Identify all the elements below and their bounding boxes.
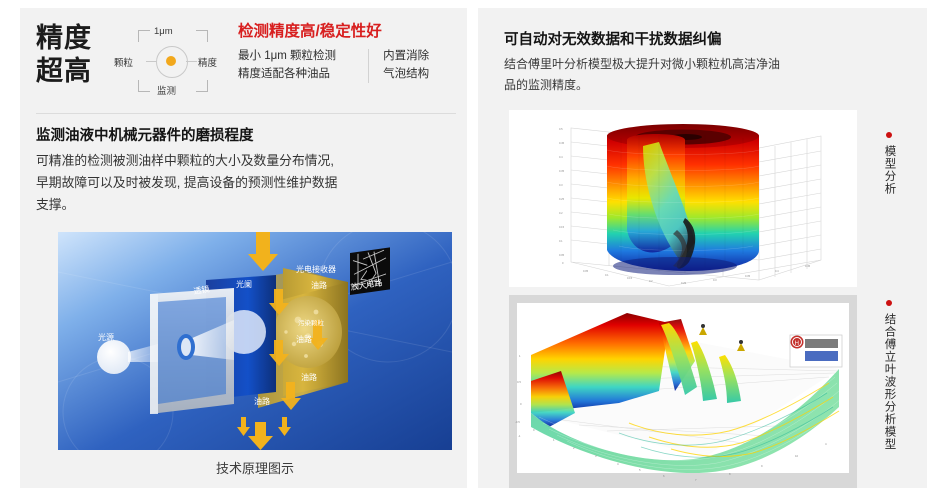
header-spec-row: 最小 1μm 颗粒检测 精度适配各种油品 内置消除 气泡结构: [238, 47, 460, 83]
diagram-label-contaminant: 污染颗粒: [298, 318, 325, 327]
left-section-body: 可精准的检测被测油样中颗粒的大小及数量分布情况, 早期故障可以及时被发现, 提高…: [36, 150, 456, 216]
panel-big-title: 精度 超高: [36, 22, 108, 88]
big-title-line-2: 超高: [36, 55, 108, 88]
slide-root: 精度 超高 1μm 颗粒 精度 监测 检测精度高/稳定性好: [0, 0, 945, 496]
target-tick-left-icon: [146, 61, 157, 62]
svg-text:0.45: 0.45: [559, 141, 565, 145]
technical-principle-diagram: 光源 透镜 光阑 光电接收器 放大电路 油路 污染颗粒 油路 油路 油路 油路: [58, 232, 452, 450]
side-label-1-text: 模型分析: [883, 145, 896, 195]
diagram-label-aperture: 光阑: [236, 279, 252, 289]
badge-label-bottom: 监测: [157, 83, 176, 97]
left-body-line-1: 可精准的检测被测油样中颗粒的大小及数量分布情况,: [36, 150, 456, 172]
svg-text:-0.5: -0.5: [515, 420, 520, 424]
svg-text:0.5: 0.5: [559, 127, 563, 131]
target-tick-right-icon: [186, 61, 197, 62]
side-bullet-2-icon: [886, 300, 892, 306]
svg-text:H: H: [795, 341, 799, 347]
badge-label-right: 精度: [198, 55, 217, 69]
left-panel-header: 精度 超高 1μm 颗粒 精度 监测 检测精度高/稳定性好: [36, 20, 456, 102]
bracket-bottom-right-icon: [196, 80, 208, 92]
right-body-line-1: 结合傅里叶分析模型极大提升对微小颗粒机高洁净油: [504, 54, 834, 75]
diagram-label-oil-path-2: 油路: [296, 334, 312, 344]
svg-text:10: 10: [795, 454, 799, 458]
svg-text:0.2: 0.2: [649, 279, 653, 283]
spec-a-line-1: 最小 1μm 颗粒检测: [238, 47, 368, 65]
header-headline: 检测精度高/稳定性好: [238, 22, 460, 42]
bracket-top-left-icon: [138, 30, 150, 42]
diagram-svg: 光源 透镜 光阑 光电接收器 放大电路 油路 污染颗粒 油路 油路 油路 油路: [58, 232, 452, 450]
chart-2-svg: H 10.50 -0.5-1 012 345 678 9104: [509, 295, 857, 488]
svg-text:0.3: 0.3: [713, 278, 717, 282]
svg-text:0.4: 0.4: [775, 269, 779, 273]
spec-a-line-2: 精度适配各种油品: [238, 65, 368, 83]
svg-text:0.3: 0.3: [559, 183, 563, 187]
chart-2-legend: H: [790, 335, 842, 367]
svg-text:-1: -1: [518, 434, 521, 438]
side-label-model-analysis: 模型分析: [863, 132, 915, 195]
precision-target-icon: 1μm 颗粒 精度 监测: [118, 24, 228, 98]
diagram-label-photo-receiver: 光电接收器: [296, 264, 336, 274]
side-label-fourier-model: 结合傅立叶波形分析模型: [863, 300, 915, 451]
right-feature-panel: 可自动对无效数据和干扰数据纠偏 结合傅里叶分析模型极大提升对微小颗粒机高洁净油 …: [478, 8, 927, 488]
side-label-2-text: 结合傅立叶波形分析模型: [883, 313, 896, 451]
diagram-label-oil-path-top: 油路: [311, 280, 327, 290]
left-section-title: 监测油液中机械元器件的磨损程度: [36, 124, 254, 145]
svg-text:0.4: 0.4: [559, 155, 563, 159]
badge-label-left: 颗粒: [114, 55, 133, 69]
svg-text:0.25: 0.25: [559, 197, 565, 201]
svg-text:0.2: 0.2: [559, 211, 563, 215]
right-body-line-2: 品的监测精度。: [504, 75, 834, 96]
chart-paraboloid-surface: 0.50.450.4 0.350.30.25 0.20.150.1 0.050 …: [509, 110, 857, 287]
left-feature-panel: 精度 超高 1μm 颗粒 精度 监测 检测精度高/稳定性好: [20, 8, 467, 488]
svg-text:0.45: 0.45: [805, 264, 811, 268]
bracket-top-right-icon: [196, 30, 208, 42]
chart-1-surface: [607, 124, 759, 275]
svg-text:0.05: 0.05: [583, 269, 589, 273]
svg-text:0.15: 0.15: [627, 276, 633, 280]
svg-text:0.35: 0.35: [559, 169, 565, 173]
diagram-caption: 技术原理图示: [58, 458, 452, 477]
chart-1-svg: 0.50.450.4 0.350.30.25 0.20.150.1 0.050 …: [509, 110, 857, 287]
diagram-label-oil-path-4: 油路: [254, 396, 270, 406]
badge-label-top: 1μm: [154, 26, 173, 37]
svg-text:0.1: 0.1: [559, 239, 563, 243]
big-title-line-1: 精度: [36, 22, 108, 55]
bracket-bottom-left-icon: [138, 80, 150, 92]
svg-text:0.5: 0.5: [517, 380, 521, 384]
header-divider: [36, 113, 456, 114]
svg-text:0.05: 0.05: [559, 253, 565, 257]
svg-text:0.35: 0.35: [745, 274, 751, 278]
spec-column-a: 最小 1μm 颗粒检测 精度适配各种油品: [238, 47, 368, 83]
left-body-line-2: 早期故障可以及时被发现, 提高设备的预测性维护数据: [36, 172, 456, 194]
header-spec-block: 检测精度高/稳定性好 最小 1μm 颗粒检测 精度适配各种油品 内置消除 气泡结…: [238, 20, 460, 100]
diagram-label-light-source: 光源: [98, 332, 114, 342]
svg-text:0.15: 0.15: [559, 225, 565, 229]
spec-b-line-2: 气泡结构: [383, 65, 460, 83]
svg-text:0.25: 0.25: [681, 281, 687, 285]
spec-column-b: 内置消除 气泡结构: [369, 47, 460, 83]
left-body-line-3: 支撑。: [36, 194, 456, 216]
side-bullet-1-icon: [886, 132, 892, 138]
chart-ripple-surface: H 10.50 -0.5-1 012 345 678 9104: [509, 295, 857, 488]
diagram-label-oil-path-3: 油路: [301, 372, 317, 382]
svg-text:0.1: 0.1: [605, 273, 609, 277]
target-center-dot-icon: [166, 56, 176, 66]
right-section-body: 结合傅里叶分析模型极大提升对微小颗粒机高洁净油 品的监测精度。: [504, 54, 834, 96]
right-section-title: 可自动对无效数据和干扰数据纠偏: [504, 28, 722, 49]
spec-b-line-1: 内置消除: [383, 47, 460, 65]
